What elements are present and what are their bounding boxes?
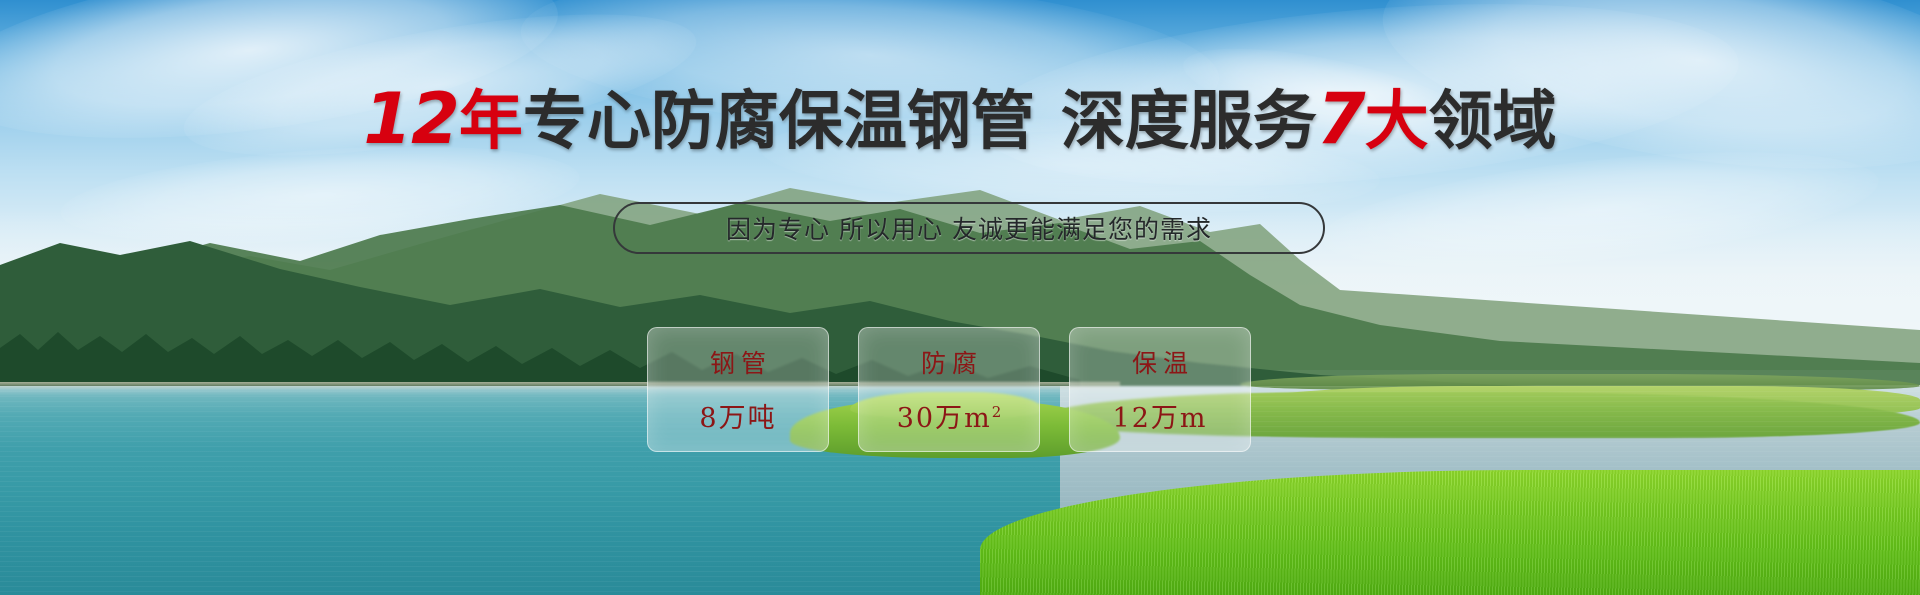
stat-card-title: 保温	[1126, 344, 1194, 380]
subtitle-pill: 因为专心 所以用心 友诚更能满足您的需求	[613, 202, 1325, 254]
headline-years-number: 12	[363, 78, 458, 160]
stat-card-value: 30万m2	[897, 396, 1002, 435]
stat-card-value-text: 12万m	[1113, 403, 1208, 434]
stat-card-insulation: 保温 12万m	[1069, 327, 1251, 452]
stat-card-title: 钢管	[704, 344, 772, 380]
stat-card-value-text: 8万吨	[699, 403, 776, 434]
subtitle-text: 因为专心 所以用心 友诚更能满足您的需求	[726, 210, 1212, 246]
headline-years-unit: 年	[459, 85, 523, 159]
stat-card-value: 12万m	[1113, 396, 1208, 435]
headline-service-phrase: 深度服务	[1061, 85, 1317, 159]
headline-main-phrase: 专心防腐保温钢管	[523, 85, 1035, 159]
stat-card-anticorrosion: 防腐 30万m2	[858, 327, 1040, 452]
stat-card-group: 钢管 8万吨 防腐 30万m2 保温 12万m	[647, 327, 1251, 452]
headline-fields-unit: 大	[1365, 85, 1429, 159]
stat-card-value: 8万吨	[699, 396, 776, 435]
stat-card-title: 防腐	[915, 344, 983, 380]
stat-card-steel-pipe: 钢管 8万吨	[647, 327, 829, 452]
promo-banner: 12年专心防腐保温钢管深度服务7大领域 因为专心 所以用心 友诚更能满足您的需求…	[0, 0, 1920, 595]
headline: 12年专心防腐保温钢管深度服务7大领域	[0, 86, 1920, 155]
stat-card-value-superscript: 2	[992, 403, 1002, 421]
headline-fields-number: 7	[1317, 78, 1365, 160]
stat-card-value-text: 30万m	[897, 403, 992, 434]
headline-fields-tail: 领域	[1429, 85, 1557, 159]
